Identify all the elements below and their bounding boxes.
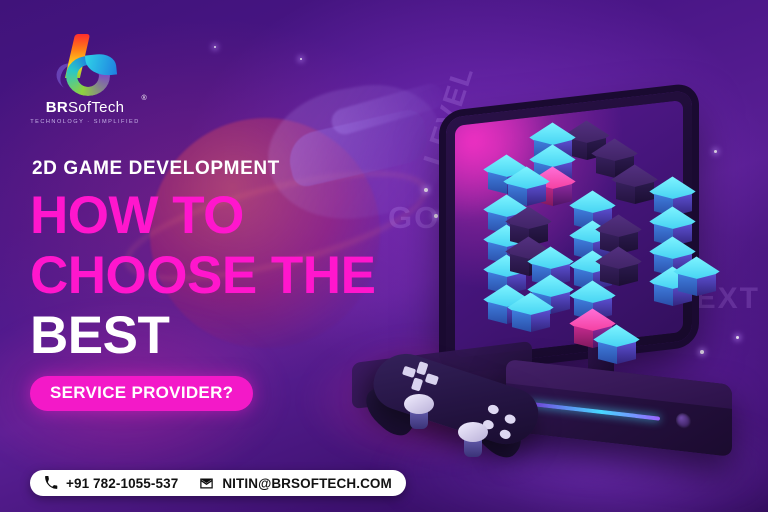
cube-block	[512, 292, 550, 336]
headline-line-3: BEST	[30, 310, 430, 362]
registered-mark: ®	[142, 95, 147, 102]
analog-stick-right	[458, 422, 488, 456]
cube-block	[598, 324, 636, 368]
phone-icon	[44, 476, 58, 490]
sparkle-dot	[214, 46, 216, 48]
sparkle-dot	[300, 58, 302, 60]
cta-pill-button[interactable]: SERVICE PROVIDER?	[30, 376, 253, 411]
eyebrow-text: 2D GAME DEVELOPMENT	[32, 158, 430, 180]
power-button	[676, 412, 691, 429]
brand-name: BRSofTech®	[30, 99, 140, 116]
contact-bar: +91 782-1055-537 NITIN@BRSOFTECH.COM	[30, 470, 406, 496]
br-softech-b-logo-icon	[56, 34, 114, 96]
headline-line-1: HOW TO	[30, 190, 430, 242]
headline-block: 2D GAME DEVELOPMENT HOW TO CHOOSE THE BE…	[30, 158, 430, 411]
cube-block	[678, 256, 716, 300]
sparkle-dot	[434, 214, 438, 218]
email-address[interactable]: NITIN@BRSOFTECH.COM	[222, 476, 392, 491]
envelope-icon	[199, 476, 214, 491]
isometric-tetris-blocks	[446, 96, 746, 396]
brand-name-bold: BR	[46, 99, 68, 116]
phone-number[interactable]: +91 782-1055-537	[66, 476, 178, 491]
brand-tagline: TECHNOLOGY · SIMPLIFIED	[30, 119, 140, 125]
cube-block	[616, 164, 654, 208]
brand-logo[interactable]: BRSofTech® TECHNOLOGY · SIMPLIFIED	[30, 34, 140, 125]
cube-block	[600, 246, 638, 290]
headline-line-2: CHOOSE THE	[30, 250, 430, 302]
brand-name-light: SofTech	[68, 99, 124, 116]
marketing-banner: LEVEL GOAL NEXT	[0, 0, 768, 512]
